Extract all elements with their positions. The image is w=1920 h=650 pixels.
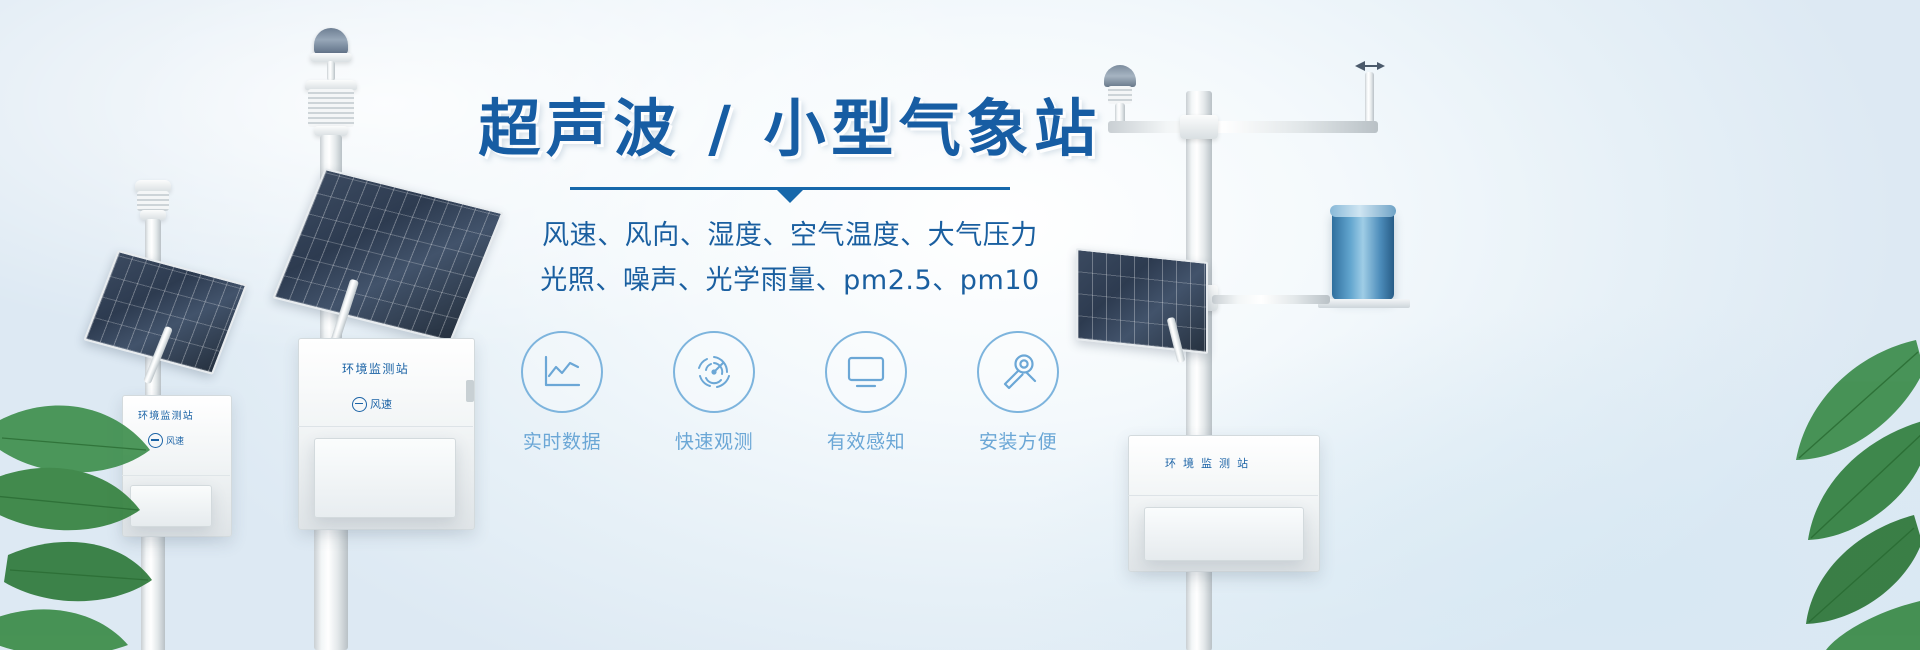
feature-icon-circle (977, 331, 1059, 413)
subtitle-line-1: 风速、风向、湿度、空气温度、大气压力 (440, 214, 1140, 259)
center-ultrasonic-dome (314, 28, 348, 54)
right-enclosure-seam (1128, 495, 1318, 496)
right-lower-panel (1144, 507, 1304, 561)
monitor-icon (845, 354, 887, 390)
center-radiation-shield (308, 89, 354, 127)
feature-icon-circle (521, 331, 603, 413)
leaf-left-icon (0, 330, 220, 650)
center-brand-logo: 风速 (352, 396, 392, 412)
feature-icon-circle (825, 331, 907, 413)
leaf-bottom-left (0, 330, 220, 650)
feature-label: 有效感知 (814, 427, 918, 454)
feature-list: 实时数据 快速观测 (440, 331, 1140, 454)
feature-item-easy-install[interactable]: 安装方便 (966, 331, 1070, 454)
wind-vane-icon (1355, 59, 1385, 73)
right-station-label: 环 境 监 测 站 (1165, 455, 1250, 471)
banner-content: 超声波 / 小型气象站 风速、风向、湿度、空气温度、大气压力 光照、噪声、光学雨… (440, 96, 1140, 454)
product-banner: 环境监测站 风速 环境监测站 风速 (0, 0, 1920, 650)
right-gauge-arm (1212, 295, 1330, 304)
page-title: 超声波 / 小型气象站 (440, 96, 1140, 161)
leaf-bottom-right (1666, 300, 1920, 650)
leaf-right-icon (1666, 300, 1920, 650)
right-rain-gauge (1332, 210, 1394, 300)
feature-label: 快速观测 (662, 427, 766, 454)
feature-item-fast-observation[interactable]: 快速观测 (662, 331, 766, 454)
feature-icon-circle (673, 331, 755, 413)
right-cross-arm (1108, 121, 1378, 133)
line-chart-icon (542, 354, 582, 390)
subtitle-block: 风速、风向、湿度、空气温度、大气压力 光照、噪声、光学雨量、pm2.5、pm10 (440, 214, 1140, 303)
center-sensor-stem (327, 61, 335, 81)
wrench-icon (997, 351, 1039, 393)
feature-item-effective-sensing[interactable]: 有效感知 (814, 331, 918, 454)
feature-item-realtime-data[interactable]: 实时数据 (510, 331, 614, 454)
right-rain-gauge-shelf (1318, 299, 1410, 308)
right-rain-gauge-rim (1330, 205, 1396, 217)
right-mast-collar-top (1180, 115, 1218, 139)
center-station-label: 环境监测站 (342, 360, 409, 377)
subtitle-line-2: 光照、噪声、光学雨量、pm2.5、pm10 (440, 259, 1140, 304)
feature-label: 实时数据 (510, 427, 614, 454)
feature-label: 安装方便 (966, 427, 1070, 454)
right-wind-vane (1355, 59, 1385, 73)
title-divider (570, 187, 1010, 190)
left-sensor-ring (137, 191, 169, 211)
right-ultrasonic-sensor (1104, 65, 1136, 87)
center-lower-panel (314, 438, 456, 518)
radar-icon (693, 351, 735, 393)
center-brand-text: 风速 (370, 396, 392, 412)
brand-mark-icon (352, 397, 367, 412)
